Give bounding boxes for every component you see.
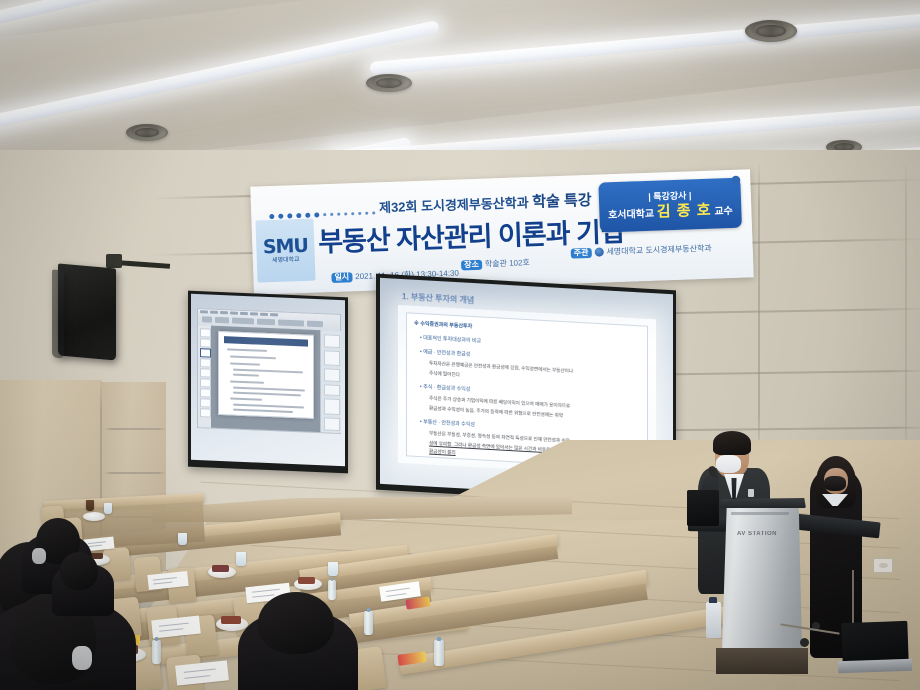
smu-logo-mark: SMU [263,237,309,258]
tab-insert[interactable] [210,311,218,314]
smu-logo-subtitle: 세명대학교 [272,257,300,264]
meta-chip-date: 일시 [331,272,352,283]
podium-label: AV STATION [737,531,777,537]
slide-thumbnail[interactable] [200,388,211,397]
face-mask [716,455,741,473]
coffee-cup [86,500,94,511]
paper-cup [178,533,187,545]
speaker-name: 김 종 호 [657,201,712,220]
task-pane-item[interactable] [324,417,340,431]
speaker-affiliation: 호서대학교 [608,208,654,221]
podium-base [716,648,808,674]
tab-design[interactable] [220,311,228,314]
projection-screen-left [191,294,345,466]
face-mask [72,646,92,670]
banner-right-dots [731,176,741,209]
audience-member-head [60,552,98,590]
podium-vent-slot [731,512,789,515]
wall-speaker [58,263,116,360]
tab-animations[interactable] [240,312,248,315]
banner-event-emphasis: 학술 특강 [532,192,592,211]
tab-transitions[interactable] [230,311,238,314]
smu-university-logo: SMU 세명대학교 [255,219,315,283]
presenter-monitor [687,490,719,526]
paper-cup [236,552,246,566]
wall-speaker-shadow [52,269,64,358]
recessed-ceiling-speaker [366,74,412,92]
podium-caster [800,638,809,647]
banner-event-prefix: 제32회 도시경제부동산학과 [379,195,529,215]
av-station-podium [722,503,802,651]
snack-plate [83,512,105,521]
paper-cup [104,503,112,514]
meta-value-host: 세명대학교 도시경제부동산학과 [606,243,712,258]
speaker-person-hair [713,431,751,455]
event-banner: SMU 세명대학교 제32회 도시경제부동산학과 학술 특강 부동산 자산관리 … [250,169,753,294]
slide-bullet: • 예금 · 안전성과 환금성 [420,348,470,358]
editor-task-pane[interactable] [320,330,341,433]
meta-chip-host: 주관 [571,247,592,258]
speaker-role: 교수 [714,205,733,217]
slide-thumbnail-panel[interactable] [198,325,212,428]
water-bottle [328,580,336,600]
slide-bullet: • 부동산 · 안전성과 수익성 [420,418,475,428]
banner-dot-row [269,210,375,219]
speaker-tag: | 특강강사 | [648,191,691,202]
slide-preview-titlebar [224,336,308,347]
speaker-name-line: 호서대학교 김 종 호 교수 [608,201,733,220]
slide-thumbnail[interactable] [200,378,211,387]
slide-preview[interactable] [218,331,314,419]
lecture-hall-photo: SMU 세명대학교 제32회 도시경제부동산학과 학술 특강 부동산 자산관리 … [0,0,920,690]
audience-member-head [258,592,334,654]
slide-thumbnail[interactable] [200,348,211,357]
tab-slideshow[interactable] [250,312,258,315]
face-mask [824,476,846,491]
host-emblem-icon [594,247,603,256]
task-pane-item[interactable] [324,398,340,415]
slide-thumbnail[interactable] [200,338,211,347]
laptop-keyboard-base[interactable] [838,659,912,674]
ribbon-tool[interactable] [215,317,229,324]
water-bottle [364,611,373,635]
banner-meta-place: 장소 학술관 102호 [461,257,530,270]
slide-bullet: • 주식 · 환금성과 수익성 [420,383,470,393]
paper-cup [328,562,338,576]
slide-section-heading: ※ 수익증권과의 부동산투자 [414,320,472,330]
task-pane-item[interactable] [324,334,340,348]
face-mask [32,548,46,564]
laptop-lid [841,621,908,663]
podium-top-surface [718,498,806,508]
slide-thumbnail[interactable] [200,328,211,337]
slide-title: 1. 부동산 투자의 개념 [402,291,474,306]
ribbon-tool[interactable] [202,316,212,322]
slide-bullet-text: 주식에 떨어진다 [429,371,460,379]
snack [298,577,315,584]
task-pane-item[interactable] [324,350,340,366]
tab-home[interactable] [200,310,208,313]
slide-bullet: • 대표적인 투자대상과의 비교 [420,334,481,344]
tab-view[interactable] [270,313,278,316]
presentation-editor-window [197,308,341,434]
task-pane-item[interactable] [324,384,340,396]
slide-thumbnail[interactable] [200,398,211,407]
editor-tab-row[interactable] [200,310,278,316]
water-bottle [434,640,444,666]
water-bottle [152,640,161,664]
recessed-ceiling-speaker [126,124,168,141]
snack [212,565,229,572]
snack [221,616,241,624]
slide-bullet-text: 환금성이 불리 [429,449,456,456]
tab-review[interactable] [260,313,268,316]
banner-speaker-box: | 특강강사 | 호서대학교 김 종 호 교수 [598,178,742,233]
slide-thumbnail[interactable] [200,368,211,377]
ribbon-tool[interactable] [278,319,304,326]
hand-sanitizer [706,602,721,638]
slide-thumbnail[interactable] [200,408,211,417]
meta-chip-place: 장소 [461,259,482,270]
ribbon-tool[interactable] [257,319,275,326]
speaker-mount-bracket [106,254,122,268]
speaker-badge [748,489,754,497]
ribbon-tool[interactable] [307,321,323,328]
slide-thumbnail[interactable] [200,358,211,367]
recessed-ceiling-speaker [745,20,797,42]
slide-edit-canvas[interactable] [211,326,320,433]
ribbon-tool[interactable] [232,317,254,324]
task-pane-item[interactable] [324,368,340,382]
meta-value-place: 학술관 102호 [485,257,530,270]
